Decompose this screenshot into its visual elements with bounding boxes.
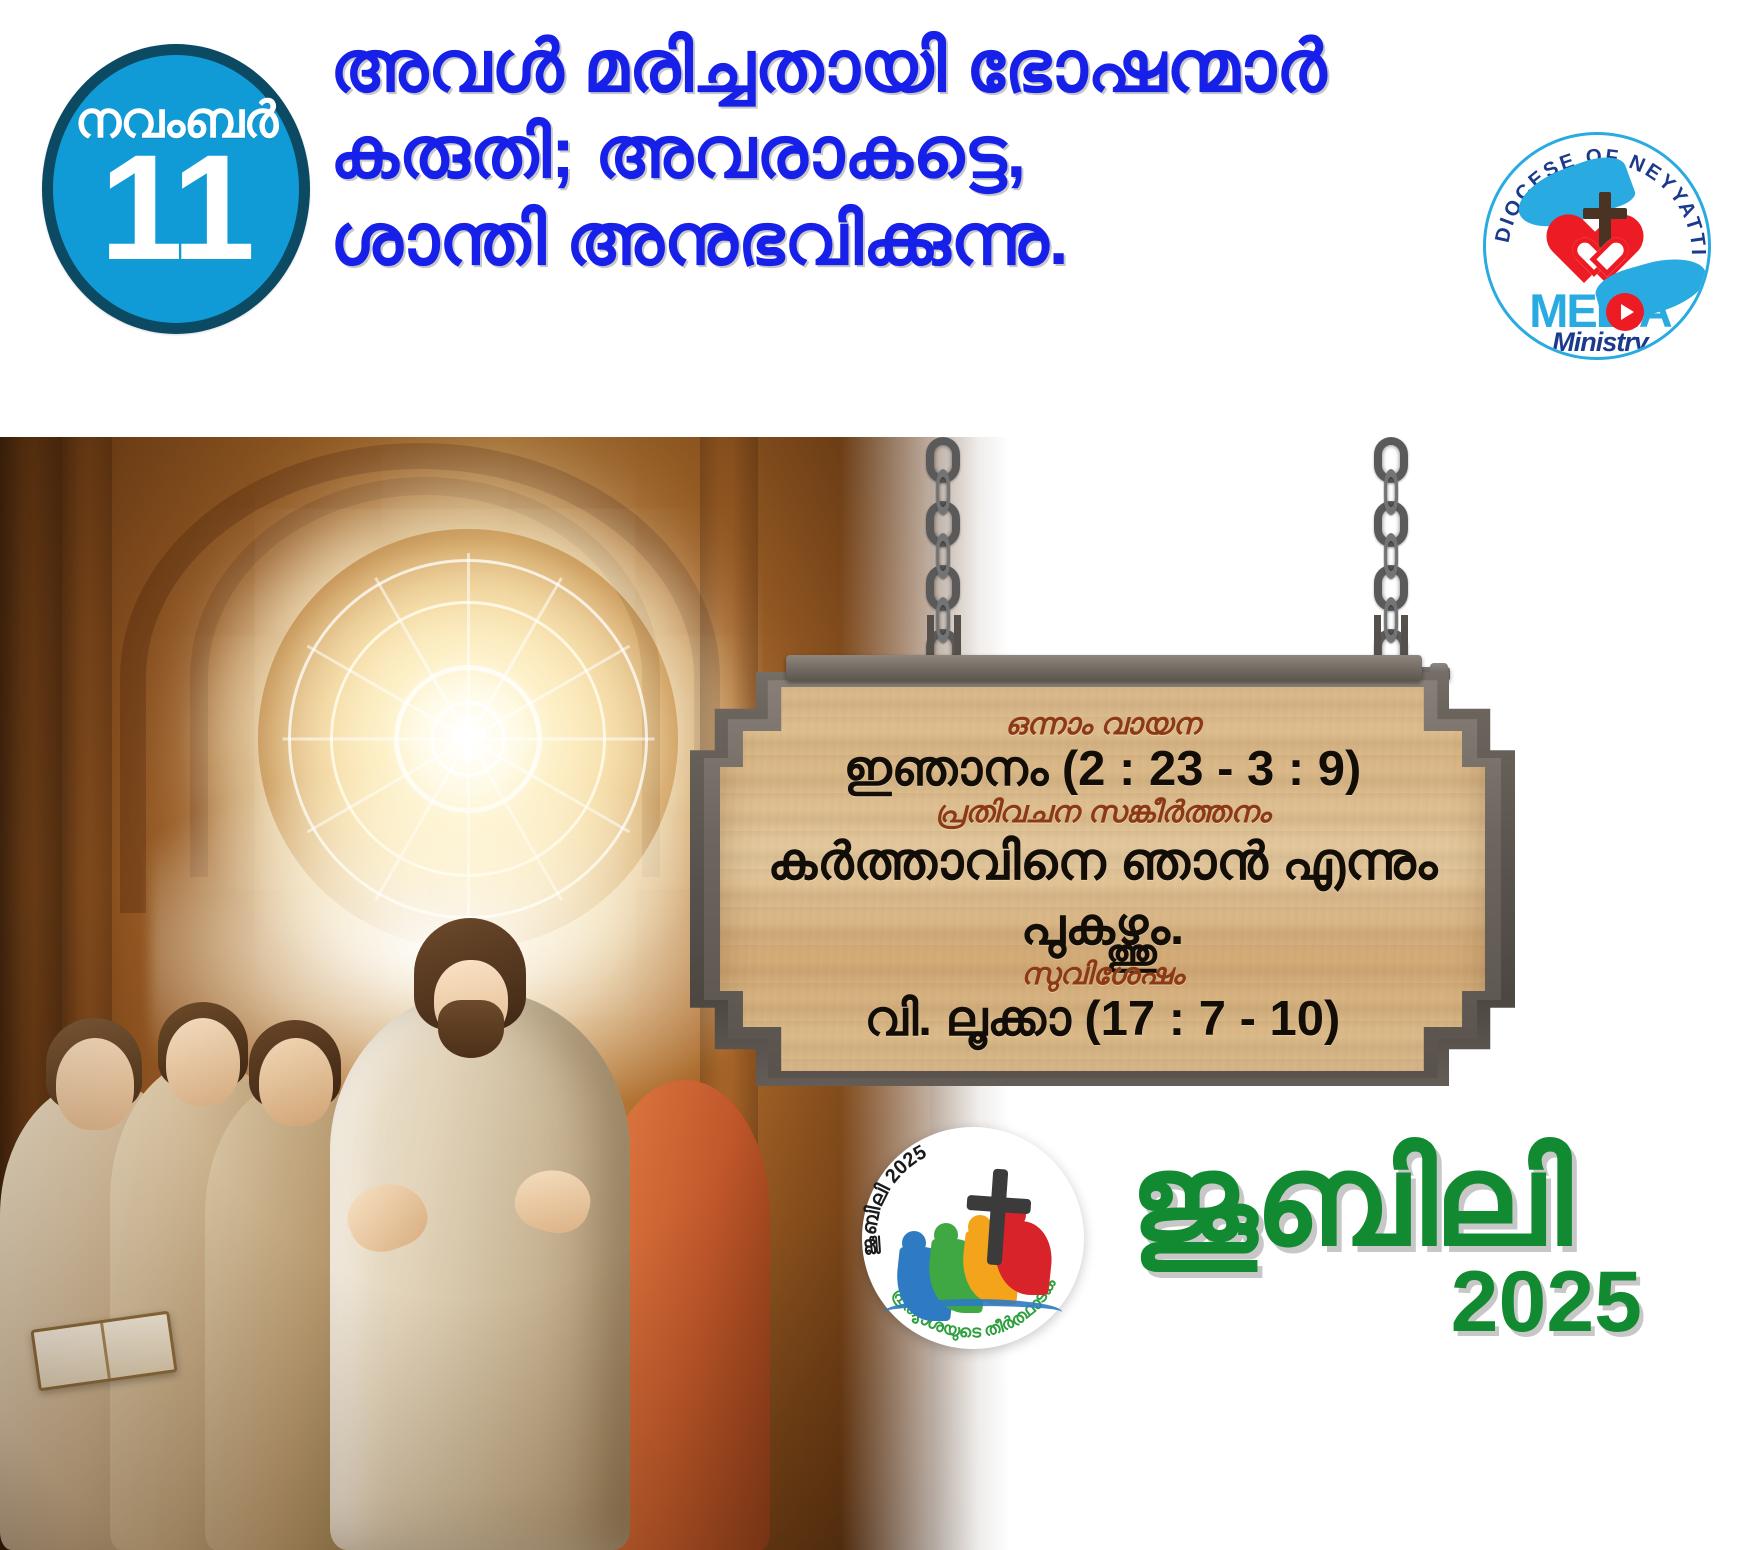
responsorial-psalm-label: പ്രതിവചന സങ്കീർത്തനം (935, 797, 1271, 829)
psalm-response-line-1: കർത്താവിനെ ഞാൻ എന്നും (768, 833, 1438, 892)
figure-jesus (330, 950, 630, 1550)
chain-link (936, 533, 950, 579)
sign-board: ഒന്നാം വായന ഇഞാനം (2 : 23 - 3 : 9) പ്രതി… (720, 679, 1485, 1079)
jubilee-logo-disc: ജൂബിലി 2025 പ്രത്യാശയുടെ തീർത്ഥാടകർ (862, 1127, 1084, 1349)
jubilee-wordmark-malayalam: ജൂബിലി (1130, 1137, 1690, 1265)
beard (438, 1000, 504, 1058)
header-verse-text: അവൾ മരിച്ചതായി ഭോഷന്മാർ കരുതി; അവരാകട്ടെ… (330, 24, 1370, 414)
jubilee-2025-logo: ജൂബിലി 2025 പ്രത്യാശയുടെ തീർത്ഥാടകർ (862, 1127, 1084, 1349)
wooden-readings-sign: ഒന്നാം വായന ഇഞാനം (2 : 23 - 3 : 9) പ്രതി… (690, 649, 1515, 1109)
date-circle: നവംബർ 11 (42, 44, 310, 334)
chain-link (1384, 533, 1398, 579)
rose-cross-icon (464, 717, 473, 761)
rose-spoke (469, 738, 655, 741)
chain-link (1384, 469, 1398, 515)
gospel-label: സുവിശേഷം (1021, 959, 1184, 991)
first-reading-label: ഒന്നാം വായന (1005, 709, 1200, 741)
first-reading-reference: ഇഞാനം (2 : 23 - 3 : 9) (844, 742, 1362, 797)
verse-line-1: അവൾ മരിച്ചതായി ഭോഷന്മാർ (330, 24, 1370, 110)
date-day-number: 11 (100, 135, 253, 279)
jubilee-head-blue (902, 1231, 926, 1255)
chain-link (936, 469, 950, 515)
jubilee-wordmark: ജൂബിലി 2025 (1130, 1137, 1690, 1347)
jubilee-head-green (934, 1223, 958, 1247)
rose-spoke (283, 738, 469, 741)
sign-text-block: ഒന്നാം വായന ഇഞാനം (2 : 23 - 3 : 9) പ്രതി… (720, 679, 1485, 1079)
media-ministry-logo: DIOCESE OF NEYYATTINKARA MEDIA Ministry (1483, 132, 1711, 360)
head (259, 1038, 333, 1126)
jubilee-wave-icon (884, 1299, 1062, 1325)
verse-line-2: കരുതി; അവരാകട്ടെ, (330, 110, 1370, 196)
sign-top-rail (786, 655, 1422, 681)
date-badge: നവംബർ 11 (42, 18, 310, 358)
rose-spoke (467, 553, 470, 739)
robe (330, 990, 630, 1550)
verse-line-3: ശാന്തി അനുഭവിക്കുന്നു. (330, 197, 1370, 283)
main-illustration-area: ഒന്നാം വായന ഇഞാനം (2 : 23 - 3 : 9) പ്രതി… (0, 437, 1748, 1550)
gospel-reference: വി. ലൂക്കാ (17 : 7 - 10) (865, 992, 1341, 1047)
media-logo-disc: DIOCESE OF NEYYATTINKARA MEDIA Ministry (1483, 132, 1711, 360)
heart-icon-inner (1582, 239, 1630, 281)
psalm-response-line-2: പുകഴ്ത്തും. (1021, 898, 1185, 957)
ministry-word: Ministry (1486, 327, 1711, 358)
play-icon (1606, 293, 1644, 331)
header-banner: നവംബർ 11 അവൾ മരിച്ചതായി ഭോഷന്മാർ കരുതി; … (0, 0, 1748, 437)
